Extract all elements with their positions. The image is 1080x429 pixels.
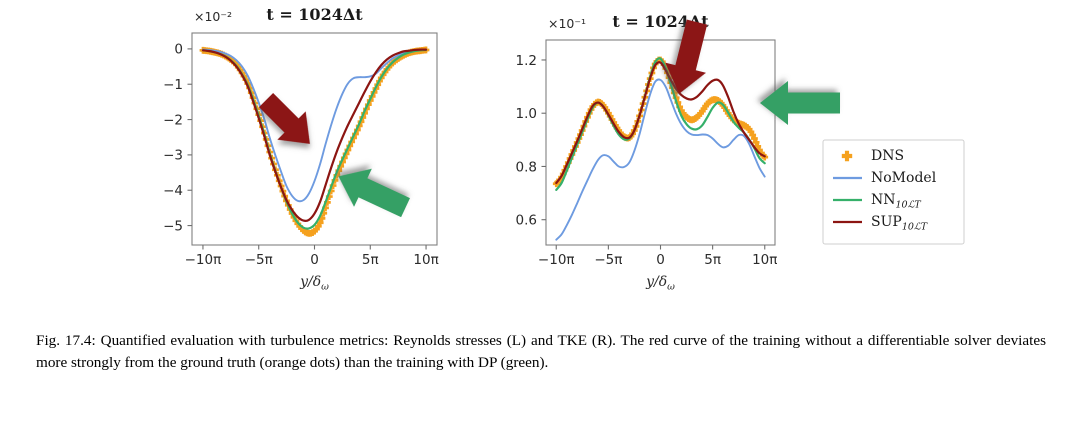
x-ticklabel-right-0: −10π (538, 252, 575, 268)
figure-svg: t = 1024Δt×10⁻²0−1−2−3−4−5−10π−5π05π10πy… (0, 0, 1080, 320)
y-ticklabel-left-0: 0 (174, 42, 183, 58)
x-ticklabel-left-1: −5π (245, 252, 273, 268)
caption-body: Quantified evaluation with turbulence me… (36, 332, 1046, 371)
y-ticklabel-right-1: 0.8 (516, 159, 537, 175)
legend-label-dns: DNS (871, 148, 904, 164)
figure-plots: t = 1024Δt×10⁻²0−1−2−3−4−5−10π−5π05π10πy… (0, 0, 1080, 320)
y-ticklabel-right-2: 1.0 (516, 106, 537, 122)
x-axis-title-left: y/δω (299, 274, 329, 293)
x-ticklabel-left-4: 10π (413, 252, 438, 268)
x-axis-title-right: y/δω (645, 274, 675, 293)
y-ticklabel-left-2: −2 (163, 112, 183, 128)
plot-panel-left: t = 1024Δt×10⁻²0−1−2−3−4−5−10π−5π05π10πy… (163, 5, 439, 293)
y-ticklabel-left-3: −3 (163, 148, 183, 164)
x-ticklabel-left-3: 5π (362, 252, 379, 268)
x-ticklabel-left-2: 0 (310, 252, 319, 268)
plot-panel-right: t = 1024Δt×10⁻¹0.60.81.01.2−10π−5π05π10π… (516, 12, 778, 293)
x-ticklabel-right-4: 10π (752, 252, 777, 268)
y-exponent-right: ×10⁻¹ (548, 16, 586, 31)
x-ticklabel-right-2: 0 (656, 252, 665, 268)
y-ticklabel-right-0: 0.6 (516, 213, 537, 229)
plot-title-left: t = 1024Δt (266, 5, 363, 24)
y-ticklabel-left-1: −1 (163, 77, 183, 93)
y-ticklabel-right-3: 1.2 (516, 53, 537, 69)
x-ticklabel-left-0: −10π (185, 252, 222, 268)
y-exponent-left: ×10⁻² (194, 9, 232, 24)
x-ticklabel-right-3: 5π (704, 252, 721, 268)
legend-label-nomodel: NoModel (871, 170, 937, 186)
x-ticklabel-right-1: −5π (594, 252, 622, 268)
figure-caption: Fig. 17.4: Quantified evaluation with tu… (36, 330, 1046, 375)
legend: DNSNoModelNN10ℒTSUP10ℒT (823, 140, 964, 244)
y-ticklabel-left-5: −5 (163, 218, 183, 234)
caption-figure-number: Fig. 17.4: (36, 332, 96, 349)
y-ticklabel-left-4: −4 (163, 183, 183, 199)
